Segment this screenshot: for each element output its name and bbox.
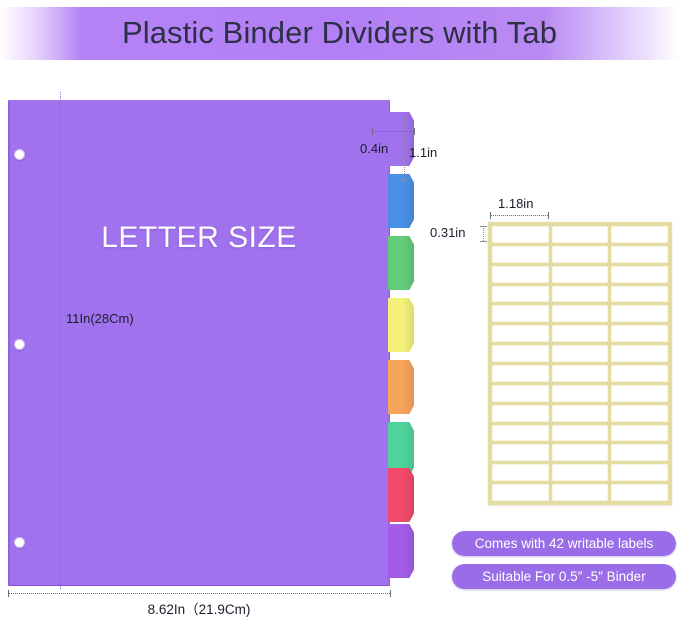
binder-width-dimension-line (8, 593, 390, 594)
tab-pink-shade (388, 468, 414, 522)
label-cell (492, 305, 549, 322)
label-cell (552, 464, 609, 481)
tab-pink[interactable] (388, 468, 414, 522)
label-cell (552, 365, 609, 382)
label-cell (611, 286, 668, 303)
label-cell (552, 444, 609, 461)
label-cell (611, 444, 668, 461)
tab-purple-2-shade (388, 524, 414, 578)
tab-purple-2[interactable] (388, 524, 414, 578)
label-cell (611, 246, 668, 263)
label-cell (611, 365, 668, 382)
label-cell (492, 286, 549, 303)
label-cell (492, 226, 549, 243)
letter-size-label: LETTER SIZE (8, 221, 390, 255)
label-cell (611, 425, 668, 442)
label-cell (611, 226, 668, 243)
punch-hole-middle (14, 339, 25, 350)
tab-blue-shade (388, 174, 414, 228)
tab-green-shade (388, 236, 414, 290)
label-cell (492, 405, 549, 422)
tab-width-label: 0.4in (360, 141, 388, 156)
label-cell (611, 385, 668, 402)
label-cell (492, 444, 549, 461)
tab-height-cap-top (401, 117, 408, 118)
label-cell (492, 266, 549, 283)
label-cell (611, 266, 668, 283)
product-infographic: Plastic Binder Dividers with Tab LETTER … (0, 0, 679, 617)
label-cell (492, 464, 549, 481)
label-cell (611, 405, 668, 422)
tab-width-cap-left (372, 128, 373, 135)
tab-height-label: 1.1in (409, 145, 437, 160)
label-cell (552, 484, 609, 501)
label-width-cap-right (548, 212, 549, 219)
label-cell (552, 226, 609, 243)
tab-yellow-shade (388, 298, 414, 352)
label-width-cap-left (490, 212, 491, 219)
tab-orange[interactable] (388, 360, 414, 414)
binder-sheet (8, 100, 390, 586)
label-cell (611, 345, 668, 362)
label-cell (492, 345, 549, 362)
label-cell (492, 246, 549, 263)
label-cell (492, 484, 549, 501)
label-cell (552, 246, 609, 263)
label-cell (611, 464, 668, 481)
binder-width-cap-right (390, 590, 391, 597)
label-cell (552, 345, 609, 362)
tab-height-dimension-line (404, 117, 405, 180)
label-cell (611, 325, 668, 342)
label-cell (492, 365, 549, 382)
tab-width-dimension-line (372, 131, 414, 132)
binder-width-label: 8.62In（21.9Cm) (8, 598, 390, 617)
punch-hole-top (14, 149, 25, 160)
label-width-dimension-line (490, 215, 548, 216)
tab-width-cap-right (414, 128, 415, 135)
tab-green[interactable] (388, 236, 414, 290)
binder-height-label: 11In(28Cm) (66, 311, 134, 326)
label-height-cap-top (480, 226, 487, 227)
label-cell (552, 405, 609, 422)
label-cell (552, 266, 609, 283)
label-width-label: 1.18in (498, 196, 533, 211)
label-height-dimension-line (483, 226, 484, 241)
tab-blue[interactable] (388, 174, 414, 228)
label-cell (552, 305, 609, 322)
label-cell (492, 325, 549, 342)
binder-top-edge (8, 100, 390, 102)
label-cell (552, 385, 609, 402)
label-cell (611, 484, 668, 501)
punch-hole-bottom (14, 537, 25, 548)
tab-orange-shade (388, 360, 414, 414)
binder-fold-line (60, 92, 61, 589)
label-cell (552, 325, 609, 342)
label-height-cap-bottom (480, 241, 487, 242)
label-cell (552, 286, 609, 303)
binder-left-edge (8, 100, 10, 586)
label-cell (611, 305, 668, 322)
badge-writable-labels: Comes with 42 writable labels (452, 531, 676, 556)
label-height-label: 0.31in (430, 225, 465, 240)
label-cell (492, 425, 549, 442)
binder-width-cap-left (8, 590, 9, 597)
page-title: Plastic Binder Dividers with Tab (0, 9, 679, 57)
badge-binder-fit: Suitable For 0.5″ -5″ Binder (452, 564, 676, 589)
tab-height-cap-bottom (401, 180, 408, 181)
label-sheet (488, 222, 672, 505)
label-cell (492, 385, 549, 402)
tab-yellow[interactable] (388, 298, 414, 352)
label-cell (552, 425, 609, 442)
